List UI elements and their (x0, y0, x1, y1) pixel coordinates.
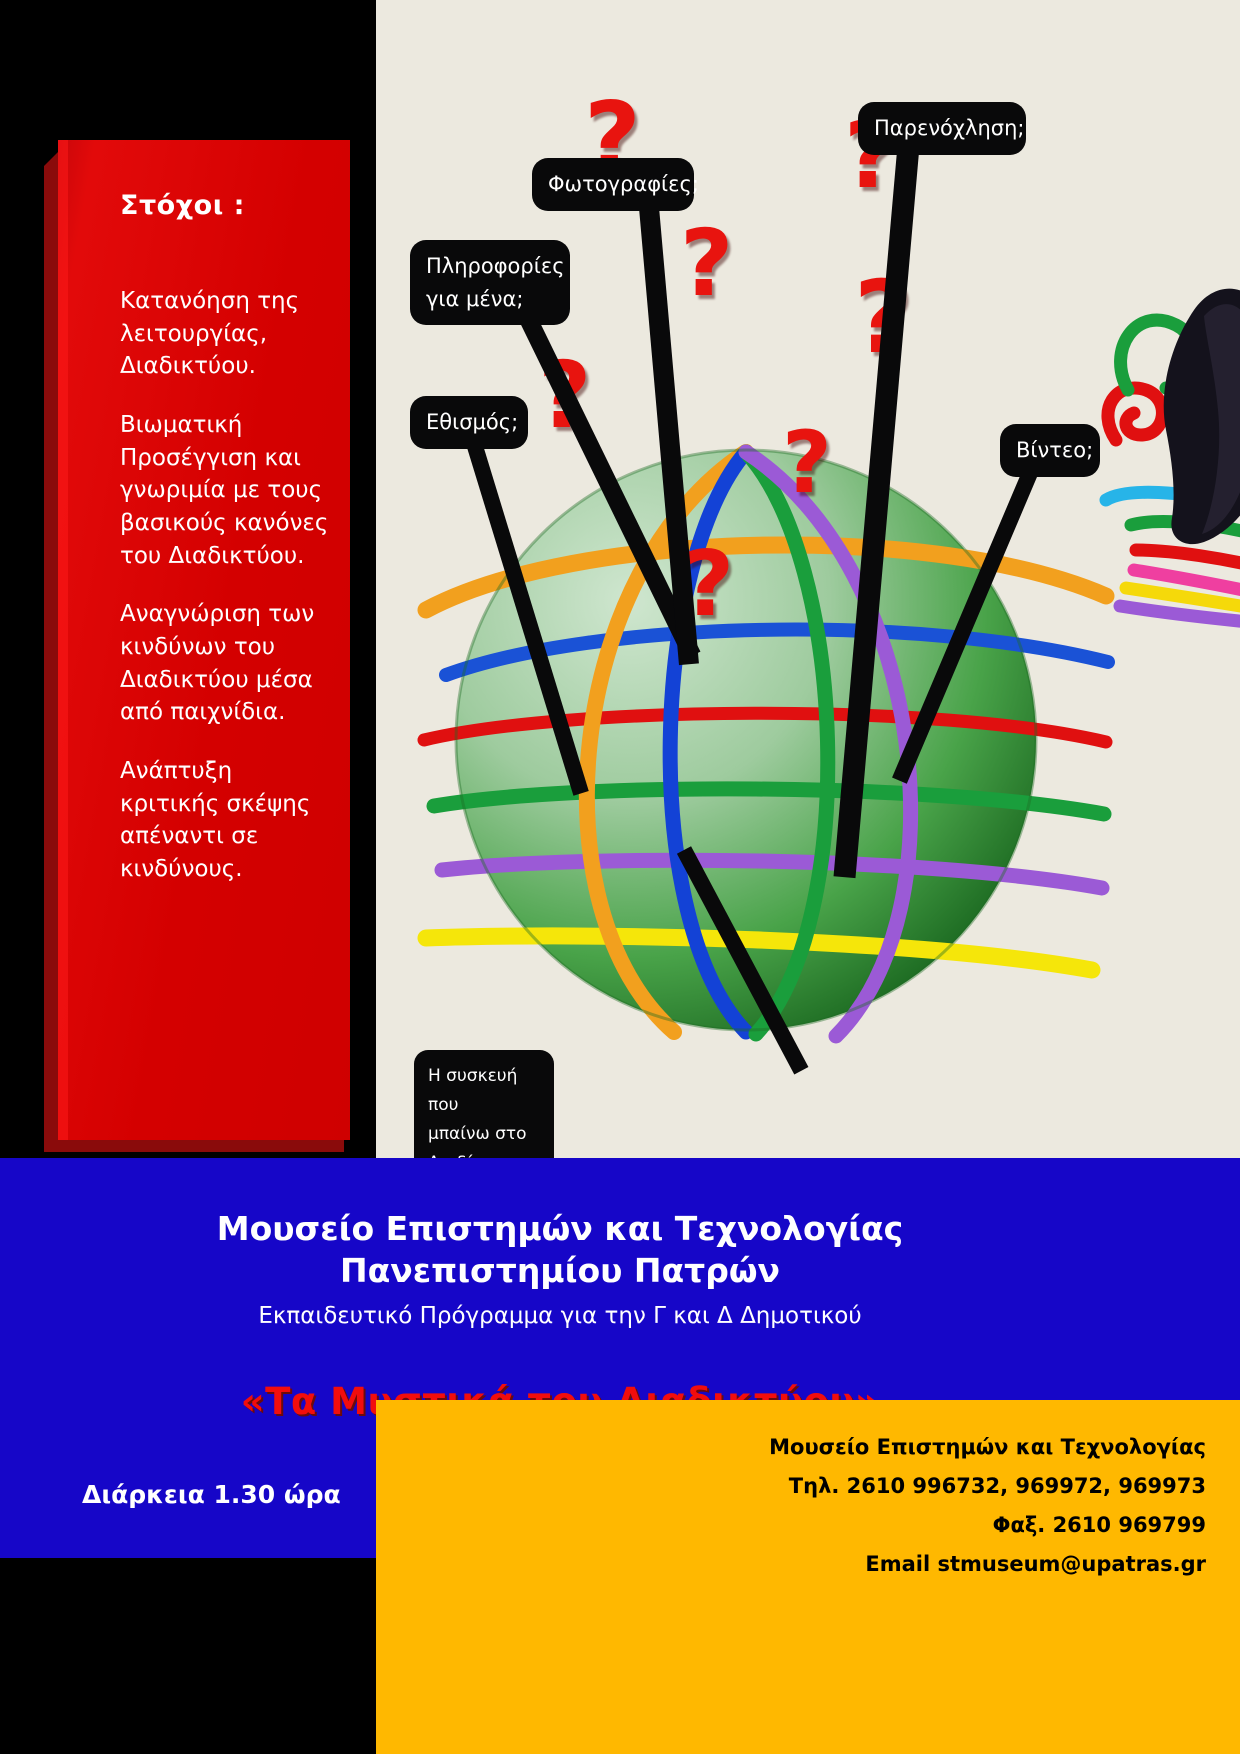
objectives-panel-highlight (58, 140, 68, 1140)
objectives-title: Στόχοι : (120, 190, 245, 221)
bubble-fotografies-text: Φωτογραφίες; (548, 172, 699, 196)
bubble-ethismos-text: Εθισμός; (426, 410, 518, 434)
bubble-plirofories-line2: για μένα; (426, 283, 554, 316)
objectives-panel: Στόχοι : Κατανόηση της λειτουργίας, Διαδ… (58, 140, 350, 1140)
bubble-syskevi-line1: Η συσκευή που (428, 1062, 540, 1120)
contact-phone: Τηλ. 2610 996732, 969972, 969973 (769, 1467, 1206, 1506)
museum-name-line1: Μουσείο Επιστημών και Τεχνολογίας (0, 1208, 1120, 1250)
bubble-fotografies[interactable]: Φωτογραφίες; (532, 158, 694, 211)
objective-item: Αναγνώριση των κινδύνων του Διαδικτύου μ… (120, 598, 330, 729)
colorful-squiggles-decoration (1076, 270, 1240, 630)
bubble-syskevi-line2: μπαίνω στο (428, 1120, 540, 1149)
contact-box: Μουσείο Επιστημών και Τεχνολογίας Τηλ. 2… (376, 1400, 1240, 1754)
bubble-syskevi-line3: Διαδίκτυο; (428, 1149, 540, 1158)
museum-name: Μουσείο Επιστημών και Τεχνολογίας Πανεπι… (0, 1208, 1120, 1292)
question-mark-icon: ? (782, 420, 832, 506)
artwork-panel: ? ? ? ? ? ? ? Εθισμός; Πληροφορίες για μ… (376, 0, 1240, 1158)
bubble-parenochlisi-text: Παρενόχληση; (874, 116, 1024, 140)
poster: ? ? ? ? ? ? ? Εθισμός; Πληροφορίες για μ… (0, 0, 1240, 1754)
program-audience: Εκπαιδευτικό Πρόγραμμα για την Γ και Δ Δ… (0, 1303, 1120, 1329)
bubble-ethismos[interactable]: Εθισμός; (410, 396, 528, 449)
question-mark-icon: ? (680, 218, 733, 310)
bubble-vinteo[interactable]: Βίντεο; (1000, 424, 1100, 477)
contact-museum-name: Μουσείο Επιστημών και Τεχνολογίας (769, 1428, 1206, 1467)
objectives-list: Κατανόηση της λειτουργίας, Διαδικτύου. Β… (120, 285, 330, 912)
bubble-parenochlisi[interactable]: Παρενόχληση; (858, 102, 1026, 155)
bubble-vinteo-text: Βίντεο; (1016, 438, 1093, 462)
contact-email[interactable]: Email stmuseum@upatras.gr (769, 1545, 1206, 1584)
museum-name-line2: Πανεπιστημίου Πατρών (0, 1250, 1120, 1292)
objective-item: Ανάπτυξη κριτικής σκέψης απέναντι σε κιν… (120, 755, 330, 886)
bubble-syskevi[interactable]: Η συσκευή που μπαίνω στο Διαδίκτυο; (414, 1050, 554, 1158)
bubble-plirofories[interactable]: Πληροφορίες για μένα; (410, 240, 570, 325)
objective-item: Βιωματική Προσέγγιση και γνωριμία με του… (120, 409, 330, 572)
contact-details: Μουσείο Επιστημών και Τεχνολογίας Τηλ. 2… (769, 1428, 1206, 1583)
duration-label: Διάρκεια 1.30 ώρα (82, 1480, 341, 1509)
objective-item: Κατανόηση της λειτουργίας, Διαδικτύου. (120, 285, 330, 383)
contact-fax: Φαξ. 2610 969799 (769, 1506, 1206, 1545)
bubble-plirofories-line1: Πληροφορίες (426, 250, 554, 283)
